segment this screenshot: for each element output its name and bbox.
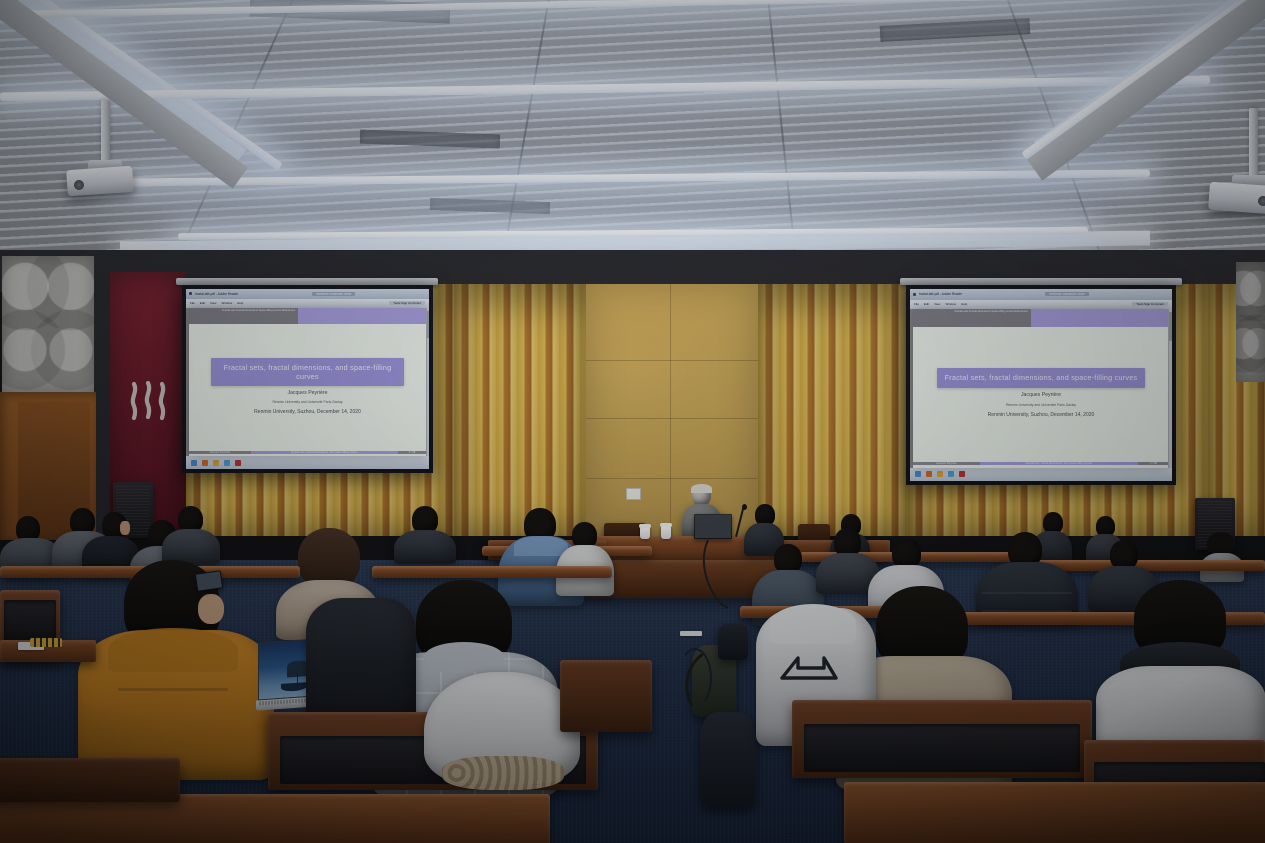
teacup-1	[640, 527, 650, 539]
menu-item-file[interactable]: File	[914, 302, 919, 306]
window-icon	[189, 292, 192, 295]
slide-author: Jacques Peyrière	[287, 390, 327, 396]
ceiling	[0, 0, 1265, 292]
slide-footer-author: Jacques Peyrière	[189, 451, 251, 454]
os-taskbar[interactable]	[910, 468, 1172, 481]
menu-item-edit[interactable]: Edit	[924, 302, 929, 306]
arrow-graphic-icon	[778, 652, 840, 688]
panel-seam	[586, 360, 758, 361]
teacup-lid-1	[639, 524, 651, 528]
presenter-laptop-screen	[695, 515, 731, 538]
slide-title: Fractal sets, fractal dimensions, and sp…	[211, 358, 403, 386]
wall-relief-panel-right	[1236, 262, 1265, 382]
hood-detail	[770, 604, 856, 644]
slide-date: Renmin University, Suzhou, December 14, …	[988, 412, 1095, 418]
wallpaper-boat	[281, 682, 307, 692]
podium-cable	[690, 540, 750, 610]
venue-emblem-icon	[124, 378, 172, 424]
slide-footer-title: Fractal sets, fractal dimensions, and sp…	[980, 462, 1139, 465]
attendee-far-woman-right	[1200, 534, 1244, 582]
pdf-scrollbar-thumb[interactable]	[1169, 312, 1172, 341]
pdf-scrollbar[interactable]	[1168, 309, 1172, 467]
slide-affiliation: Renmin University and Université Paris-S…	[1006, 403, 1076, 407]
slide-date: Renmin University, Suzhou, December 14, …	[254, 409, 361, 415]
media-icon[interactable]	[948, 471, 954, 477]
sweater-collar	[424, 642, 504, 672]
fur-trim	[442, 756, 564, 790]
slide-footer-author: Jacques Peyrière	[913, 462, 979, 465]
slide-header-accent	[1031, 309, 1169, 326]
pdf-window-title: fractal-talk.pdf - Adobe Reader	[195, 292, 238, 296]
attendee-white-sweater-mid	[556, 522, 614, 596]
pdf-window-titlebar: fractal-talk.pdf - Adobe Reader minimize…	[186, 289, 429, 299]
attendee-torso	[306, 598, 416, 728]
presenter-laptop	[694, 514, 732, 539]
projector-pole-right	[1249, 108, 1258, 178]
floor-paper	[680, 631, 702, 636]
media-icon[interactable]	[224, 460, 230, 466]
menu-item-file[interactable]: File	[190, 301, 195, 305]
pencil-case	[30, 638, 62, 647]
jacket-hood	[108, 628, 238, 672]
teacup-lid-2	[660, 523, 672, 527]
bench-front-centre	[560, 660, 652, 732]
slide-header-accent	[298, 308, 426, 324]
window-controls[interactable]: minimize-maximize-close	[312, 292, 356, 296]
attendee-mustard-jacket	[78, 560, 274, 780]
screen-surface-left: fractal-talk.pdf - Adobe Reader minimize…	[186, 289, 429, 469]
pdf-menubar[interactable]: File Edit View Window Help Tools Sign Co…	[910, 300, 1172, 310]
toolbar-right[interactable]: Tools Sign Comment	[389, 301, 425, 305]
attendee-dark-jacket-front	[306, 598, 416, 728]
projection-screen-left[interactable]: fractal-talk.pdf - Adobe Reader minimize…	[182, 285, 433, 473]
slide-affiliation: Renmin University and Université Paris-S…	[272, 400, 342, 404]
slide-footer-page: 1 / 38	[1138, 462, 1169, 465]
slide-footer-title: Fractal sets, fractal dimensions, and sp…	[251, 451, 398, 454]
window-controls[interactable]: minimize-maximize-close	[1045, 292, 1089, 296]
screen-roller-housing-left	[176, 278, 438, 285]
attendee-hair	[1207, 532, 1235, 554]
folder-icon[interactable]	[213, 460, 219, 466]
panel-seam	[670, 284, 671, 536]
pdf-window-title: fractal-talk.pdf - Adobe Reader	[919, 292, 962, 296]
toolbar-right[interactable]: Tools Sign Comment	[1132, 302, 1168, 306]
teacup-2	[661, 526, 671, 539]
wall-slats-mid-left	[454, 284, 586, 536]
panel-seam	[586, 418, 758, 419]
pdf-page-area: Fractal sets Fractal dimensions Space-fi…	[910, 309, 1172, 467]
pdf-page-area: Fractal sets Fractal dimensions Space-fi…	[186, 308, 429, 457]
slide-body: Fractal sets, fractal dimensions, and sp…	[913, 327, 1169, 459]
screen-roller-housing-right	[900, 278, 1182, 285]
attendee-blue-back	[394, 506, 456, 564]
attendee-furry-hood	[424, 672, 580, 812]
wall-center-panel	[586, 284, 758, 536]
attendee-torso	[394, 530, 456, 564]
wallpaper-mast	[297, 673, 298, 685]
pdf-window-titlebar: fractal-talk.pdf - Adobe Reader minimize…	[910, 289, 1172, 300]
slide-body: Fractal sets, fractal dimensions, and sp…	[189, 324, 426, 448]
projector-right	[1208, 182, 1265, 215]
menu-item-window[interactable]: Window	[221, 301, 232, 305]
wall-relief-panel	[2, 256, 94, 394]
start-icon[interactable]	[191, 460, 197, 466]
projector-pole-left	[101, 100, 110, 164]
slide-header: Fractal sets Fractal dimensions Space-fi…	[189, 308, 426, 324]
menu-item-view[interactable]: View	[210, 301, 216, 305]
pdf-scrollbar-thumb[interactable]	[427, 311, 429, 338]
slide-author: Jacques Peyrière	[1021, 392, 1061, 398]
attendee-torso	[162, 529, 220, 564]
presenter-hair	[691, 484, 712, 493]
slide-footer: Jacques Peyrière Fractal sets, fractal d…	[189, 448, 426, 456]
dark-backpack-far	[718, 624, 748, 660]
window-icon	[913, 293, 916, 296]
lecture-hall-photo: fractal-talk.pdf - Adobe Reader minimize…	[0, 0, 1265, 843]
screen-surface-right: fractal-talk.pdf - Adobe Reader minimize…	[910, 289, 1172, 481]
projection-screen-right[interactable]: fractal-talk.pdf - Adobe Reader minimize…	[906, 285, 1176, 485]
wall-slats-mid-right	[758, 284, 908, 536]
panel-seam	[586, 478, 758, 479]
phone-screen[interactable]	[196, 571, 222, 590]
presentation-slide-right: Fractal sets Fractal dimensions Space-fi…	[913, 309, 1169, 467]
front-desk-left-block	[0, 758, 180, 802]
menu-item-edit[interactable]: Edit	[200, 301, 205, 305]
pdf-icon[interactable]	[235, 460, 241, 466]
attendee-face	[120, 521, 130, 535]
pdf-icon[interactable]	[959, 471, 965, 477]
menu-item-window[interactable]: Window	[945, 302, 956, 306]
slide-header: Fractal sets Fractal dimensions Space-fi…	[913, 309, 1169, 326]
menu-item-help[interactable]: Help	[237, 301, 243, 305]
browser-icon[interactable]	[202, 460, 208, 466]
black-backpack	[700, 712, 756, 808]
slide-header-toc: Fractal sets Fractal dimensions Space-fi…	[189, 308, 298, 324]
photographing-hand	[198, 594, 224, 624]
projector-lens-left	[74, 180, 84, 190]
slide-footer-page: 1 / 38	[398, 451, 426, 454]
slide-title: Fractal sets, fractal dimensions, and sp…	[937, 368, 1144, 388]
backpack-strap	[678, 648, 712, 708]
front-desk-rail-right	[844, 782, 1265, 843]
menu-item-view[interactable]: View	[934, 302, 940, 306]
smartphone	[195, 570, 223, 591]
browser-icon[interactable]	[926, 471, 932, 477]
pdf-menubar[interactable]: File Edit View Window Help Tools Sign Co…	[186, 299, 429, 308]
presentation-slide-left: Fractal sets Fractal dimensions Space-fi…	[189, 308, 426, 457]
slide-header-toc: Fractal sets Fractal dimensions Space-fi…	[913, 309, 1031, 326]
os-taskbar[interactable]	[186, 456, 429, 469]
bench-row-3	[372, 566, 612, 578]
jacket-fold	[118, 688, 228, 691]
projector-lens-right	[1258, 196, 1265, 206]
start-icon[interactable]	[915, 471, 921, 477]
bench-backrest-pad	[804, 724, 1080, 772]
slide-footer: Jacques Peyrière Fractal sets, fractal d…	[913, 459, 1169, 468]
attendee-hair	[298, 528, 360, 588]
menu-item-help[interactable]: Help	[961, 302, 967, 306]
folder-icon[interactable]	[937, 471, 943, 477]
pdf-scrollbar[interactable]	[426, 308, 429, 457]
wall-thermostat	[626, 488, 641, 500]
attendee-glasses-back	[162, 506, 220, 564]
